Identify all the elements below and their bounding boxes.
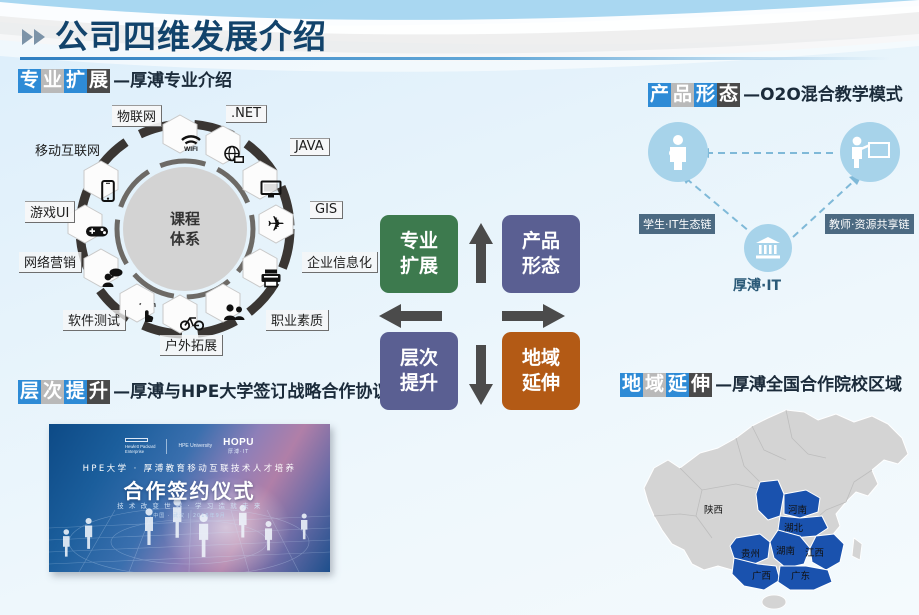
circle-center-label: 课程 体系 — [123, 209, 247, 249]
o2o-center-caption: 厚溥·IT — [733, 275, 781, 295]
quadrant-level-upgrade[interactable]: 层次 提升 — [380, 332, 458, 410]
four-dimension-quadrant: 专业 扩展 产品 形态 层次 提升 地域 延伸 — [380, 215, 580, 410]
node-network-marketing[interactable] — [81, 248, 121, 288]
header-divider — [20, 57, 890, 60]
label-iot: 物联网 — [112, 105, 162, 127]
o2o-student-label: 学生·IT生态链 — [639, 214, 715, 234]
sec1-char-2: 业 — [41, 69, 64, 93]
label-dotnet: .NET — [226, 105, 267, 123]
photo-line-1: HPE大学 · 厚溥教育移动互联技术人才培养 — [49, 462, 330, 474]
sec4-char-3: 延 — [666, 373, 689, 397]
label-java: JAVA — [290, 138, 330, 156]
label-software-testing: 软件测试 — [63, 310, 126, 331]
section-head-product-form: 产 品 形 态 —O2O混合教学模式 — [648, 80, 903, 107]
label-gis: GIS — [310, 201, 343, 219]
map-label-guangdong: 广东 — [791, 568, 810, 582]
label-enterprise-info: 企业信息化 — [302, 252, 378, 273]
quadrant-major-expansion[interactable]: 专业 扩展 — [380, 215, 458, 293]
map-label-shaanxi: 陕西 — [704, 502, 723, 516]
map-label-guizhou: 贵州 — [741, 546, 760, 560]
q-tr-line1: 产品 — [522, 229, 560, 254]
arrow-down-icon — [466, 343, 496, 405]
o2o-teacher-node[interactable] — [840, 122, 900, 182]
sec2-char-3: 形 — [694, 83, 717, 107]
logo-divider — [166, 439, 167, 454]
q-bl-line1: 层次 — [400, 346, 438, 371]
page-title: 公司四维发展介绍 — [55, 10, 327, 58]
q-br-line2: 延伸 — [522, 371, 560, 396]
o2o-student-node[interactable] — [648, 122, 708, 182]
node-professional-quality[interactable] — [203, 283, 243, 323]
map-label-jiangxi: 江西 — [805, 545, 824, 559]
label-professional-quality: 职业素质 — [266, 310, 329, 331]
q-bl-line2: 提升 — [400, 371, 438, 396]
arrow-right-icon — [501, 301, 565, 331]
photo-line-3: 技 术 改 变 世 界 · 学 习 造 就 未 来 — [49, 500, 330, 510]
photo-line-4: 中国 · 武汉 | 2016年9月 — [49, 512, 330, 519]
arrow-left-icon — [379, 301, 443, 331]
label-game-ui: 游戏UI — [25, 201, 75, 223]
sec1-char-1: 专 — [18, 69, 41, 93]
sec1-char-4: 展 — [87, 69, 110, 93]
node-iot[interactable]: WIFI — [160, 114, 200, 154]
q-tl-line2: 扩展 — [400, 254, 438, 279]
curriculum-circle-diagram: 课程 体系 WIFI ✈ — [18, 105, 358, 385]
q-br-line1: 地域 — [522, 346, 560, 371]
q-tl-line1: 专业 — [400, 229, 438, 254]
section-head-major-expansion: 专 业 扩 展 —厚溥专业介绍 — [18, 66, 232, 93]
node-mobile-internet[interactable] — [81, 160, 121, 200]
sec4-char-1: 地 — [620, 373, 643, 397]
o2o-teacher-label: 教师·资源共享链 — [825, 214, 914, 234]
quadrant-product-form[interactable]: 产品 形态 — [502, 215, 580, 293]
hpe-signing-ceremony-photo[interactable]: Hewlett Packard Enterprise HPE Universit… — [49, 424, 330, 572]
sec2-char-4: 态 — [717, 83, 740, 107]
label-mobile-internet: 移动互联网 — [30, 140, 105, 160]
circle-center-line1: 课程 — [123, 209, 247, 229]
node-enterprise-informatization[interactable] — [240, 248, 280, 288]
photo-logo-row: Hewlett Packard Enterprise HPE Universit… — [49, 437, 330, 455]
teacher-whiteboard-icon — [848, 135, 892, 169]
node-gis[interactable]: ✈ — [256, 204, 296, 244]
page-header: 公司四维发展介绍 — [22, 10, 327, 58]
sec4-char-2: 域 — [643, 373, 666, 397]
hpe-logo: Hewlett Packard Enterprise — [125, 438, 156, 454]
slide-root: 公司四维发展介绍 专 业 扩 展 —厚溥专业介绍 产 品 形 态 —O2O混合教… — [0, 0, 919, 615]
sec4-tail: —厚溥全国合作院校区域 — [715, 370, 902, 395]
china-partner-map: 陕西 河南 湖北 贵州 湖南 江西 广西 广东 — [640, 398, 919, 615]
circle-center-line2: 体系 — [123, 229, 247, 249]
map-label-hubei: 湖北 — [784, 520, 803, 534]
node-java[interactable] — [240, 160, 280, 200]
sec1-tail: —厚溥专业介绍 — [113, 66, 232, 91]
o2o-center-node[interactable] — [744, 224, 792, 272]
airplane-icon: ✈ — [267, 214, 285, 235]
china-map-graphic — [640, 398, 919, 615]
student-person-icon — [665, 134, 691, 170]
sec2-char-1: 产 — [648, 83, 671, 107]
map-label-guangxi: 广西 — [752, 568, 771, 582]
svg-text:WIFI: WIFI — [184, 146, 198, 152]
map-label-henan: 河南 — [788, 502, 807, 516]
o2o-diagram: 学生·IT生态链 教师·资源共享链 厚溥·IT — [640, 120, 910, 285]
sec2-tail: —O2O混合教学模式 — [743, 80, 903, 105]
label-network-marketing: 网络营销 — [19, 252, 82, 273]
quadrant-region-extension[interactable]: 地域 延伸 — [502, 332, 580, 410]
q-tr-line2: 形态 — [522, 254, 560, 279]
arrow-up-icon — [466, 223, 496, 285]
sec2-char-2: 品 — [671, 83, 694, 107]
section-head-region-extension: 地 域 延 伸 —厚溥全国合作院校区域 — [620, 370, 902, 397]
hopu-logo: HOPU 厚溥·IT — [223, 437, 254, 455]
node-outdoor-development[interactable] — [160, 294, 200, 334]
sec4-char-4: 伸 — [689, 373, 712, 397]
node-dotnet[interactable] — [203, 125, 243, 165]
label-outdoor-development: 户外拓展 — [160, 335, 223, 356]
hpe-logo-line2: Enterprise — [125, 449, 144, 454]
map-label-hunan: 湖南 — [776, 543, 795, 557]
sec1-char-3: 扩 — [64, 69, 87, 93]
hopu-logo-sub: 厚溥·IT — [223, 448, 254, 455]
hpe-university-label: HPE University — [178, 443, 212, 449]
double-triangle-icon — [22, 29, 45, 45]
institution-bank-icon — [755, 236, 781, 260]
hopu-logo-main: HOPU — [223, 437, 254, 448]
